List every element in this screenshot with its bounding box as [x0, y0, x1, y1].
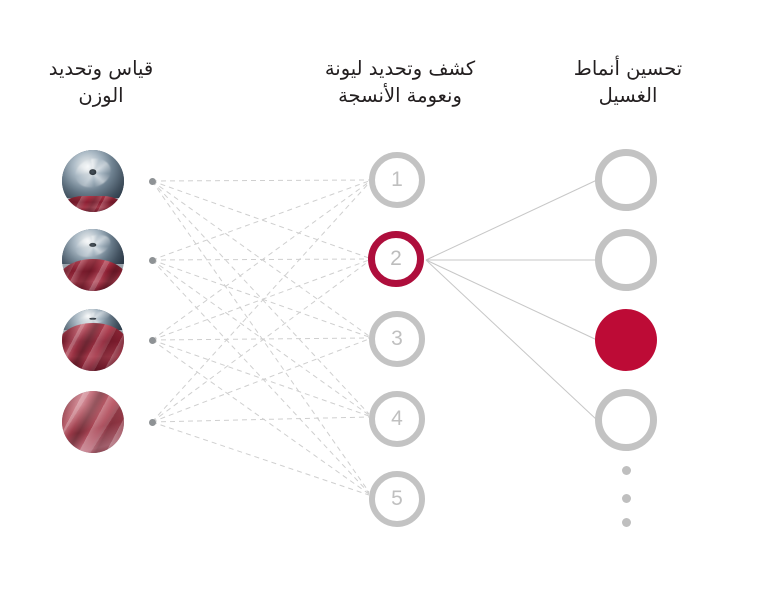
thumbnail-image-1	[62, 150, 124, 212]
output-node-3-selected[interactable]	[595, 309, 657, 371]
input-thumbnail-drum-half-load[interactable]	[62, 229, 124, 291]
input-thumbnail-drum-mostly-empty[interactable]	[62, 150, 124, 212]
hidden-node-label: 3	[391, 327, 403, 351]
hidden-to-output-edges	[426, 180, 597, 420]
connector-dot-3	[149, 337, 156, 344]
input-column-title: قياس وتحديد الوزن	[8, 55, 194, 109]
input-thumbnail-drum-heavy-load[interactable]	[62, 309, 124, 371]
edge-i2-h5	[152, 260, 369, 493]
edge-i1-h4	[152, 181, 369, 414]
edge-h2-o1	[426, 180, 597, 260]
input-to-hidden-edges	[152, 180, 369, 495]
output-node-4[interactable]	[595, 389, 657, 451]
connector-dot-4	[149, 419, 156, 426]
thumbnail-gloss	[62, 150, 124, 212]
edge-i4-h4	[152, 417, 369, 422]
hidden-node-4[interactable]: 4	[369, 391, 425, 447]
hidden-node-2-active[interactable]: 2	[368, 231, 424, 287]
thumbnail-gloss	[62, 229, 124, 291]
hidden-node-label: 1	[391, 168, 403, 192]
edge-i2-h3	[152, 260, 369, 337]
hidden-node-label: 2	[390, 247, 402, 271]
edge-i4-h3	[152, 339, 369, 422]
output-column-title: تحسين أنماط الغسيل	[530, 55, 726, 109]
thumbnail-gloss	[62, 391, 124, 453]
hidden-node-label: 5	[391, 487, 403, 511]
ellipsis-dot-2	[622, 494, 631, 503]
hidden-column-title: كشف وتحديد ليونة ونعومة الأنسجة	[282, 55, 518, 109]
connector-dot-1	[149, 178, 156, 185]
output-node-2[interactable]	[595, 229, 657, 291]
thumbnail-image-4	[62, 391, 124, 453]
thumbnail-image-2	[62, 229, 124, 291]
thumbnail-gloss	[62, 309, 124, 371]
ellipsis-dot-3	[622, 518, 631, 527]
edge-i2-h1	[152, 181, 369, 260]
edge-i1-h3	[152, 181, 369, 336]
edge-i4-h2	[152, 261, 369, 422]
thumbnail-image-3	[62, 309, 124, 371]
edge-i1-h1	[152, 180, 369, 181]
edge-i3-h4	[152, 340, 369, 416]
edge-h2-o4	[426, 260, 597, 420]
edge-i2-h2	[152, 259, 369, 260]
edge-i4-h5	[152, 422, 369, 495]
edge-i4-h1	[152, 183, 369, 422]
hidden-node-3[interactable]: 3	[369, 311, 425, 367]
hidden-node-5[interactable]: 5	[369, 471, 425, 527]
edge-h2-o3	[426, 260, 597, 340]
ellipsis-dot-1	[622, 466, 631, 475]
diagram-canvas: قياس وتحديد الوزن كشف وتحديد ليونة ونعوم…	[0, 0, 768, 600]
edge-i3-h1	[152, 182, 369, 340]
connector-dot-2	[149, 257, 156, 264]
hidden-node-1[interactable]: 1	[369, 152, 425, 208]
edge-i1-h2	[152, 181, 369, 258]
edge-i1-h5	[152, 181, 369, 492]
edge-i2-h4	[152, 260, 369, 415]
output-node-1[interactable]	[595, 149, 657, 211]
edge-i3-h2	[152, 260, 369, 340]
input-thumbnail-drum-full-load[interactable]	[62, 391, 124, 453]
edge-i3-h3	[152, 338, 369, 340]
edge-i3-h5	[152, 340, 369, 494]
hidden-node-label: 4	[391, 407, 403, 431]
